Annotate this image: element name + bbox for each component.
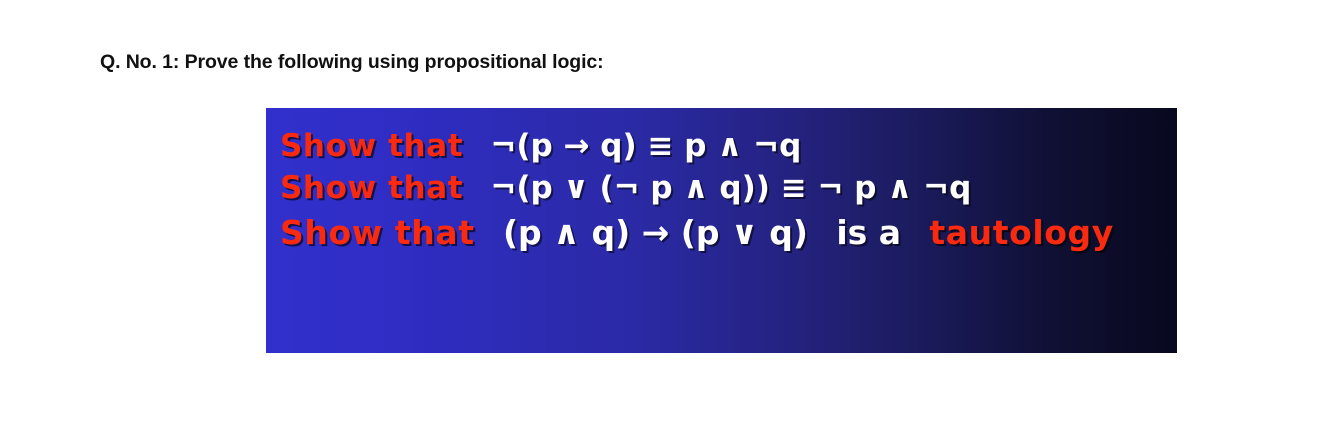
- line-formula-text: (p ∧ q) → (p ∨ q): [503, 213, 808, 252]
- line-prefix-label: Show that: [280, 213, 475, 252]
- line-suffix-text: is a: [836, 213, 901, 252]
- line-prefix-label: Show that: [280, 128, 463, 164]
- line-formula-text: ¬(p ∨ (¬ p ∧ q)) ≡ ¬ p ∧ ¬q: [490, 170, 971, 206]
- slide-panel: Show that ¬(p → q) ≡ p ∧ ¬q Show that ¬(…: [266, 108, 1177, 353]
- line-prefix-label: Show that: [280, 170, 463, 206]
- formula-list: Show that ¬(p → q) ≡ p ∧ ¬q Show that ¬(…: [280, 130, 1177, 249]
- line-suffix-highlight: tautology: [929, 213, 1114, 252]
- line-formula-text: ¬(p → q) ≡ p ∧ ¬q: [490, 128, 801, 164]
- formula-line: Show that ¬(p ∨ (¬ p ∧ q)) ≡ ¬ p ∧ ¬q: [280, 172, 1177, 216]
- formula-line: Show that (p ∧ q) → (p ∨ q) is a tautolo…: [280, 216, 1177, 249]
- formula-line: Show that ¬(p → q) ≡ p ∧ ¬q: [280, 130, 1177, 172]
- page-title: Q. No. 1: Prove the following using prop…: [100, 51, 604, 74]
